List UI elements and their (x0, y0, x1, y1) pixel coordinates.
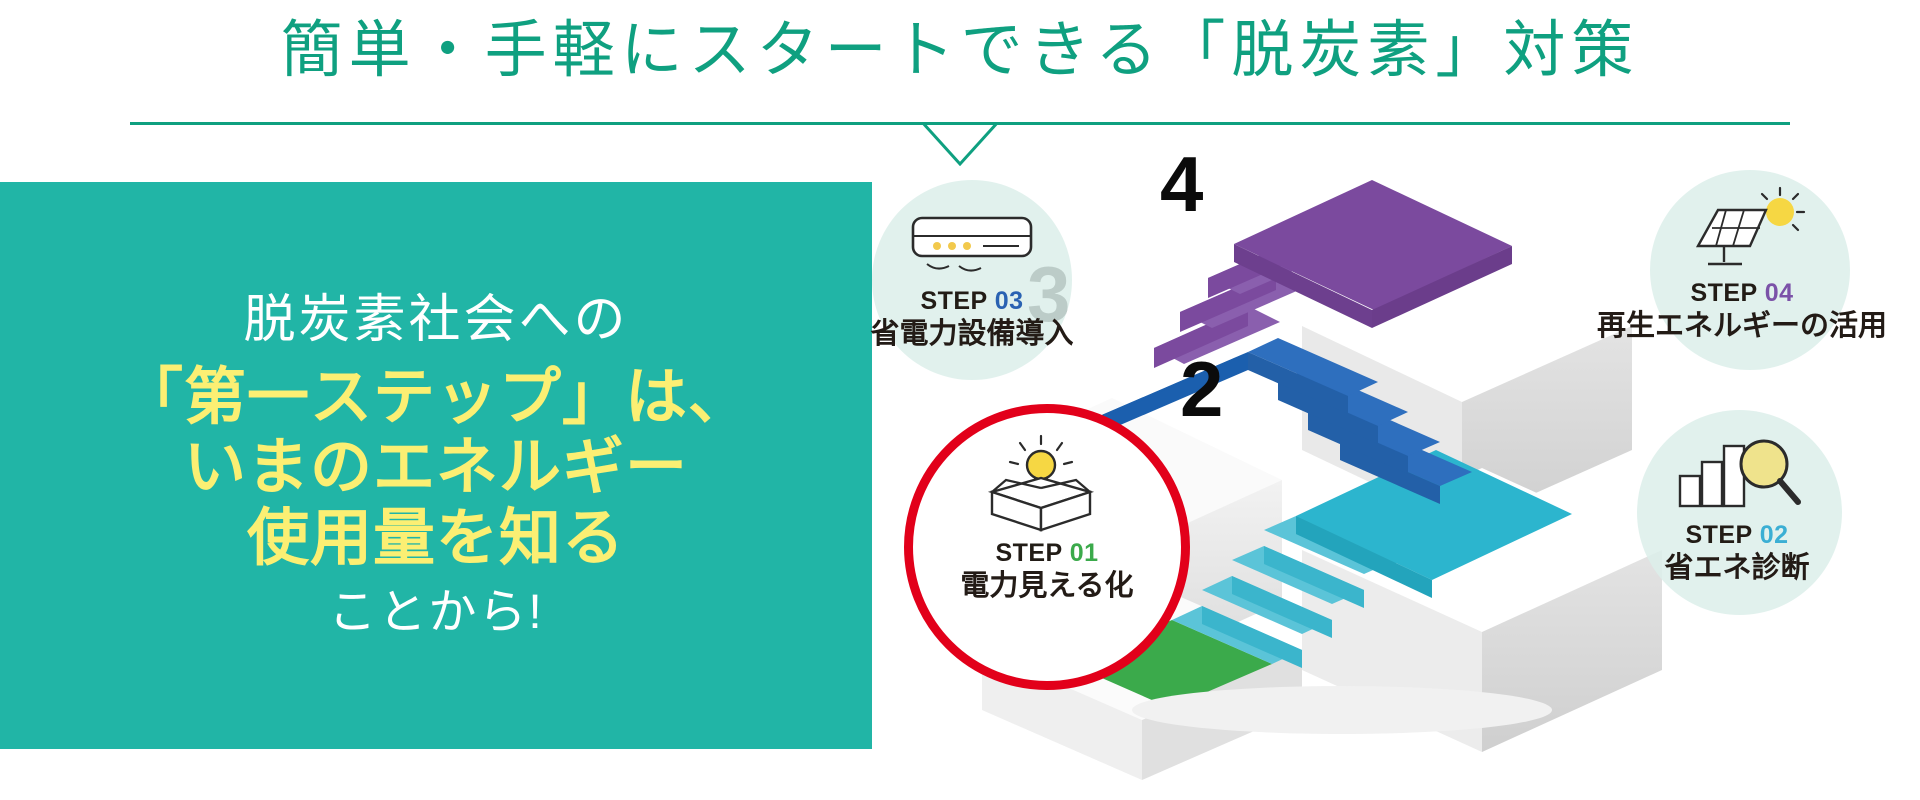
step-03-label: 省電力設備導入 (812, 318, 1132, 351)
step-01-number: 01 (1070, 539, 1099, 567)
infographic-root: 簡単・手軽にスタートできる「脱炭素」対策 脱炭素社会への 「第一ステップ」は、 … (0, 0, 1920, 800)
panel-line-highlight-1: 「第一ステップ」は、 (121, 363, 751, 434)
step-02-kicker: STEP 02 (1572, 522, 1902, 550)
step-03-number: 03 (995, 287, 1024, 315)
step-badge-02[interactable]: STEP 02 省エネ診断 (1572, 410, 1902, 660)
step-04-label: 再生エネルギーの活用 (1562, 310, 1920, 343)
panel-line-intro: 脱炭素社会への (243, 292, 628, 349)
step-01-label: 電力見える化 (904, 570, 1190, 603)
step-badge-03[interactable]: STEP 03 省電力設備導入 (812, 180, 1132, 410)
page-title: 簡単・手軽にスタートできる「脱炭素」対策 (0, 12, 1920, 90)
step-04-kicker: STEP 04 (1562, 280, 1920, 308)
step-02-number: 02 (1760, 521, 1789, 549)
air-conditioner-icon (907, 206, 1037, 278)
panel-line-highlight-3: 使用量を知る (247, 504, 625, 575)
staircase-illustration: 1 2 3 4 STEP 03 省電力設備導入 (872, 150, 1920, 800)
step-03-kicker: STEP 03 (812, 288, 1132, 316)
step-02-label: 省エネ診断 (1572, 552, 1902, 585)
stair-number-4: 4 (1160, 145, 1203, 223)
step-badge-01[interactable]: STEP 01 電力見える化 (904, 404, 1190, 690)
header: 簡単・手軽にスタートできる「脱炭素」対策 (0, 0, 1920, 150)
message-panel: 脱炭素社会への 「第一ステップ」は、 いまのエネルギー 使用量を知る ことから! (0, 182, 872, 749)
step-01-kicker: STEP 01 (904, 540, 1190, 568)
bar-chart-magnifier-icon (1672, 432, 1808, 516)
panel-line-outro: ことから! (328, 587, 543, 640)
panel-line-highlight-2: いまのエネルギー (184, 433, 688, 504)
step-04-number: 04 (1765, 279, 1794, 307)
solar-panel-sun-icon (1680, 186, 1820, 276)
lightbulb-in-open-box-icon (982, 434, 1100, 534)
step-badge-04[interactable]: STEP 04 再生エネルギーの活用 (1562, 170, 1920, 410)
